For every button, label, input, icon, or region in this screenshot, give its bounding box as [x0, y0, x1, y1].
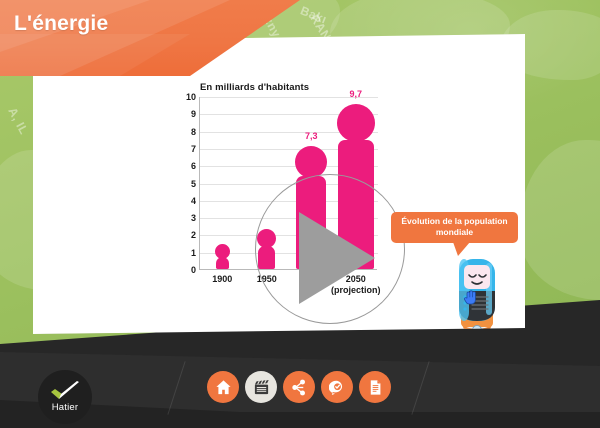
y-axis-tick: 1 [191, 248, 196, 258]
hatier-logo[interactable]: Hatier [38, 370, 92, 424]
toolbar-item-quiz[interactable] [321, 371, 353, 403]
y-axis-tick: 0 [191, 265, 196, 275]
mouse-cursor [463, 289, 477, 303]
y-axis-tick: 10 [186, 92, 196, 102]
clapperboard-icon [253, 379, 270, 396]
toolbar-item-share[interactable] [283, 371, 315, 403]
y-axis-tick: 5 [191, 179, 196, 189]
main-toolbar [207, 371, 391, 403]
y-axis-tick: 9 [191, 109, 196, 119]
bar-value-label: 9,7 [349, 89, 362, 99]
chart-bar [200, 241, 245, 269]
check-icon [49, 381, 81, 401]
toolbar-item-video[interactable] [245, 371, 277, 403]
slide-card: En milliards d'habitants 109876543210190… [33, 34, 525, 334]
document-icon [367, 379, 384, 396]
x-axis-tick-label: 1900 [212, 274, 232, 285]
check-bubble-icon [329, 379, 346, 396]
y-axis-tick: 6 [191, 161, 196, 171]
video-play-icon[interactable] [299, 212, 375, 304]
annotation-bubble: Évolution de la population mondiale [391, 212, 518, 243]
y-axis-tick: 7 [191, 144, 196, 154]
x-axis-tick: 1900 [212, 274, 232, 285]
map-label: A, IL [5, 105, 31, 137]
chart-title: En milliards d'habitants [200, 82, 309, 93]
toolbar-item-document[interactable] [359, 371, 391, 403]
pictogram-body [216, 257, 229, 269]
y-axis-tick: 4 [191, 196, 196, 206]
app-root: Astrakhan odar Grozny Bakı RAN ( A, IL E… [0, 0, 600, 428]
bar-value-label: 7,3 [305, 131, 318, 141]
y-axis-tick: 3 [191, 213, 196, 223]
toolbar-item-home[interactable] [207, 371, 239, 403]
home-icon [215, 379, 232, 396]
y-axis-tick: 2 [191, 230, 196, 240]
y-axis-tick: 8 [191, 127, 196, 137]
pictogram-head [295, 146, 327, 178]
network-icon [291, 379, 308, 396]
page-title: L'énergie [14, 12, 108, 36]
pictogram-head [337, 104, 375, 142]
logo-label: Hatier [52, 402, 79, 413]
